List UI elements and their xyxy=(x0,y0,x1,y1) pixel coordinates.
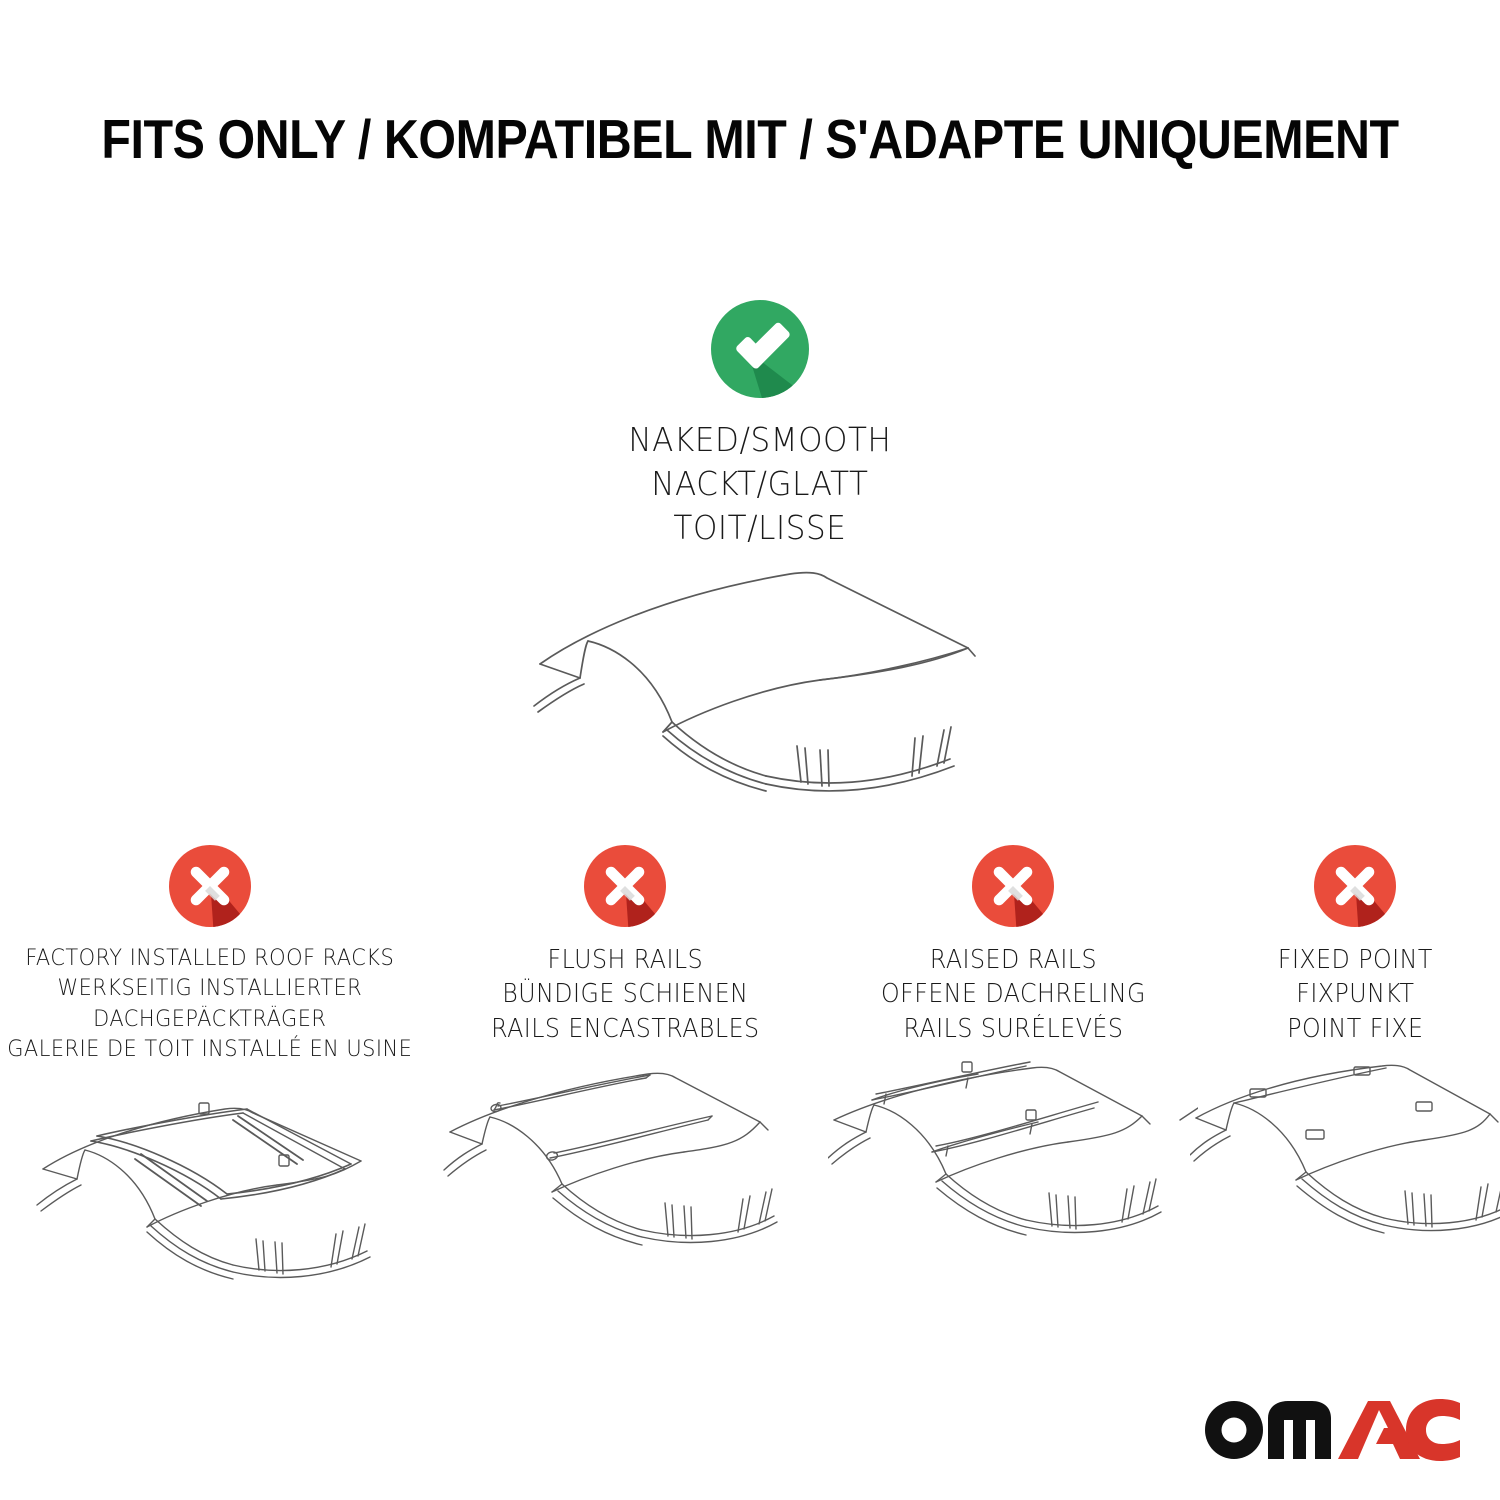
rejected-label-line-2: OFFENE DACHRELING xyxy=(881,977,1146,1011)
rejected-labels-factory-roof-racks: FACTORY INSTALLED ROOF RACKS WERKSEITIG … xyxy=(0,943,428,1065)
rejected-group-factory-roof-racks: FACTORY INSTALLED ROOF RACKS WERKSEITIG … xyxy=(0,845,420,1289)
rejected-label-line-1: RAISED RAILS xyxy=(881,943,1146,977)
car-roof-raised-rails-illustration xyxy=(828,1060,1198,1270)
rejected-label-line-1: FIXED POINT xyxy=(1278,943,1433,977)
car-roof-fixed-point-illustration xyxy=(1190,1060,1500,1270)
approved-label-line-2: NACKT/GLATT xyxy=(628,462,891,506)
rejected-label-line-3: DACHGEPÄCKTRÄGER xyxy=(7,1004,412,1034)
approved-label-line-1: NAKED/SMOOTH xyxy=(628,418,891,462)
rejected-labels-raised-rails: RAISED RAILS OFFENE DACHRELING RAILS SUR… xyxy=(871,943,1156,1046)
rejected-label-line-3: RAILS SURÉLEVÉS xyxy=(881,1012,1146,1046)
rejected-labels-fixed-point: FIXED POINT FIXPUNKT POINT FIXE xyxy=(1272,943,1439,1046)
approved-label-line-3: TOIT/LISSE xyxy=(628,506,891,550)
car-roof-naked-smooth-illustration xyxy=(520,560,1000,830)
cross-circle-icon xyxy=(584,845,666,927)
car-roof-flush-rails-illustration xyxy=(440,1060,810,1270)
rejected-label-line-3: RAILS ENCASTRABLES xyxy=(491,1012,759,1046)
rejected-label-line-2: FIXPUNKT xyxy=(1278,977,1433,1011)
cross-circle-icon xyxy=(1314,845,1396,927)
rejected-label-line-3: POINT FIXE xyxy=(1278,1012,1433,1046)
rejected-fitment-row: FACTORY INSTALLED ROOF RACKS WERKSEITIG … xyxy=(0,845,1500,1289)
approved-fitment-group: NAKED/SMOOTH NACKT/GLATT TOIT/LISSE xyxy=(500,300,1020,830)
rejected-label-line-4: GALERIE DE TOIT INSTALLÉ EN USINE xyxy=(7,1034,412,1064)
rejected-group-fixed-point: FIXED POINT FIXPUNKT POINT FIXE xyxy=(1210,845,1500,1270)
fitment-compatibility-infographic: FITS ONLY / KOMPATIBEL MIT / S'ADAPTE UN… xyxy=(0,0,1500,1500)
approved-labels: NAKED/SMOOTH NACKT/GLATT TOIT/LISSE xyxy=(620,418,900,550)
rejected-label-line-2: WERKSEITIG INSTALLIERTER xyxy=(7,973,412,1003)
rejected-group-flush-rails: FLUSH RAILS BÜNDIGE SCHIENEN RAILS ENCAS… xyxy=(435,845,815,1270)
rejected-group-raised-rails: RAISED RAILS OFFENE DACHRELING RAILS SUR… xyxy=(823,845,1203,1270)
check-circle-icon xyxy=(711,300,809,398)
logo-letter-m xyxy=(1268,1401,1331,1459)
car-roof-factory-roof-racks-illustration xyxy=(25,1079,395,1289)
cross-circle-icon xyxy=(169,845,251,927)
rejected-label-line-1: FLUSH RAILS xyxy=(491,943,759,977)
page-title: FITS ONLY / KOMPATIBEL MIT / S'ADAPTE UN… xyxy=(90,107,1410,171)
omac-logo xyxy=(1200,1390,1460,1462)
cross-circle-icon xyxy=(972,845,1054,927)
rejected-label-line-1: FACTORY INSTALLED ROOF RACKS xyxy=(7,943,412,973)
rejected-label-line-2: BÜNDIGE SCHIENEN xyxy=(491,977,759,1011)
rejected-labels-flush-rails: FLUSH RAILS BÜNDIGE SCHIENEN RAILS ENCAS… xyxy=(481,943,770,1046)
logo-letter-o xyxy=(1205,1401,1263,1459)
